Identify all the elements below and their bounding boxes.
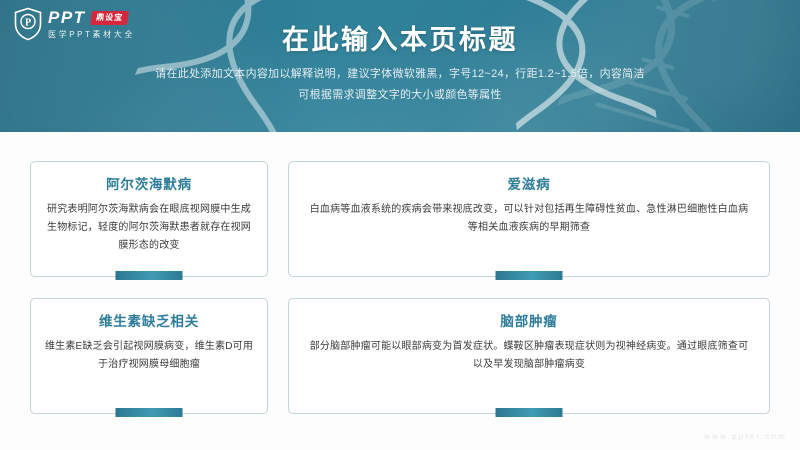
site-watermark: www.ppter.com (704, 432, 787, 441)
content-card[interactable]: 爱滋病 白血病等血液系统的疾病会带来视底改变，可以针对包括再生障碍性贫血、急性淋… (288, 161, 770, 277)
card-accent-bar (116, 408, 183, 417)
card-accent-bar (116, 271, 183, 280)
page-subtitle-line-2: 可根据需求调整文字的大小或颜色等属性 (0, 85, 800, 106)
card-accent-bar (496, 271, 563, 280)
slide: P PPT 鼎设宝 医学PPT素材大全 在此输入本页标题 请在此处添加文本内容加… (0, 0, 800, 450)
card-body: 白血病等血液系统的疾病会带来视底改变，可以针对包括再生障碍性贫血、急性淋巴细胞性… (309, 201, 749, 237)
content-card[interactable]: 脑部肿瘤 部分脑部肿瘤可能以眼部病变为首发症状。蝶鞍区肿瘤表现症状则为视神经病变… (288, 298, 770, 414)
card-title: 爱滋病 (289, 173, 769, 193)
card-title: 脑部肿瘤 (289, 310, 769, 330)
content-card[interactable]: 维生素缺乏相关 维生素E缺乏会引起视网膜病变，维生素D可用于治疗视网膜母细胞瘤 (30, 298, 268, 414)
content-card[interactable]: 阿尔茨海默病 研究表明阿尔茨海默病会在眼底视网膜中生成生物标记，轻度的阿尔茨海默… (30, 161, 268, 277)
page-subtitle: 请在此处添加文本内容加以解释说明，建议字体微软雅黑，字号12~24，行距1.2~… (0, 64, 800, 106)
page-title: 在此输入本页标题 (0, 18, 800, 57)
card-title: 维生素缺乏相关 (31, 310, 267, 330)
content-card-grid: 阿尔茨海默病 研究表明阿尔茨海默病会在眼底视网膜中生成生物标记，轻度的阿尔茨海默… (30, 161, 770, 414)
header-banner: P PPT 鼎设宝 医学PPT素材大全 在此输入本页标题 请在此处添加文本内容加… (0, 0, 800, 132)
page-subtitle-line-1: 请在此处添加文本内容加以解释说明，建议字体微软雅黑，字号12~24，行距1.2~… (0, 64, 800, 85)
card-body: 部分脑部肿瘤可能以眼部病变为首发症状。蝶鞍区肿瘤表现症状则为视神经病变。通过眼底… (309, 338, 749, 374)
card-accent-bar (496, 408, 563, 417)
card-title: 阿尔茨海默病 (31, 173, 267, 193)
card-body: 维生素E缺乏会引起视网膜病变，维生素D可用于治疗视网膜母细胞瘤 (43, 338, 255, 374)
card-body: 研究表明阿尔茨海默病会在眼底视网膜中生成生物标记，轻度的阿尔茨海默患者就存在视网… (43, 201, 255, 255)
